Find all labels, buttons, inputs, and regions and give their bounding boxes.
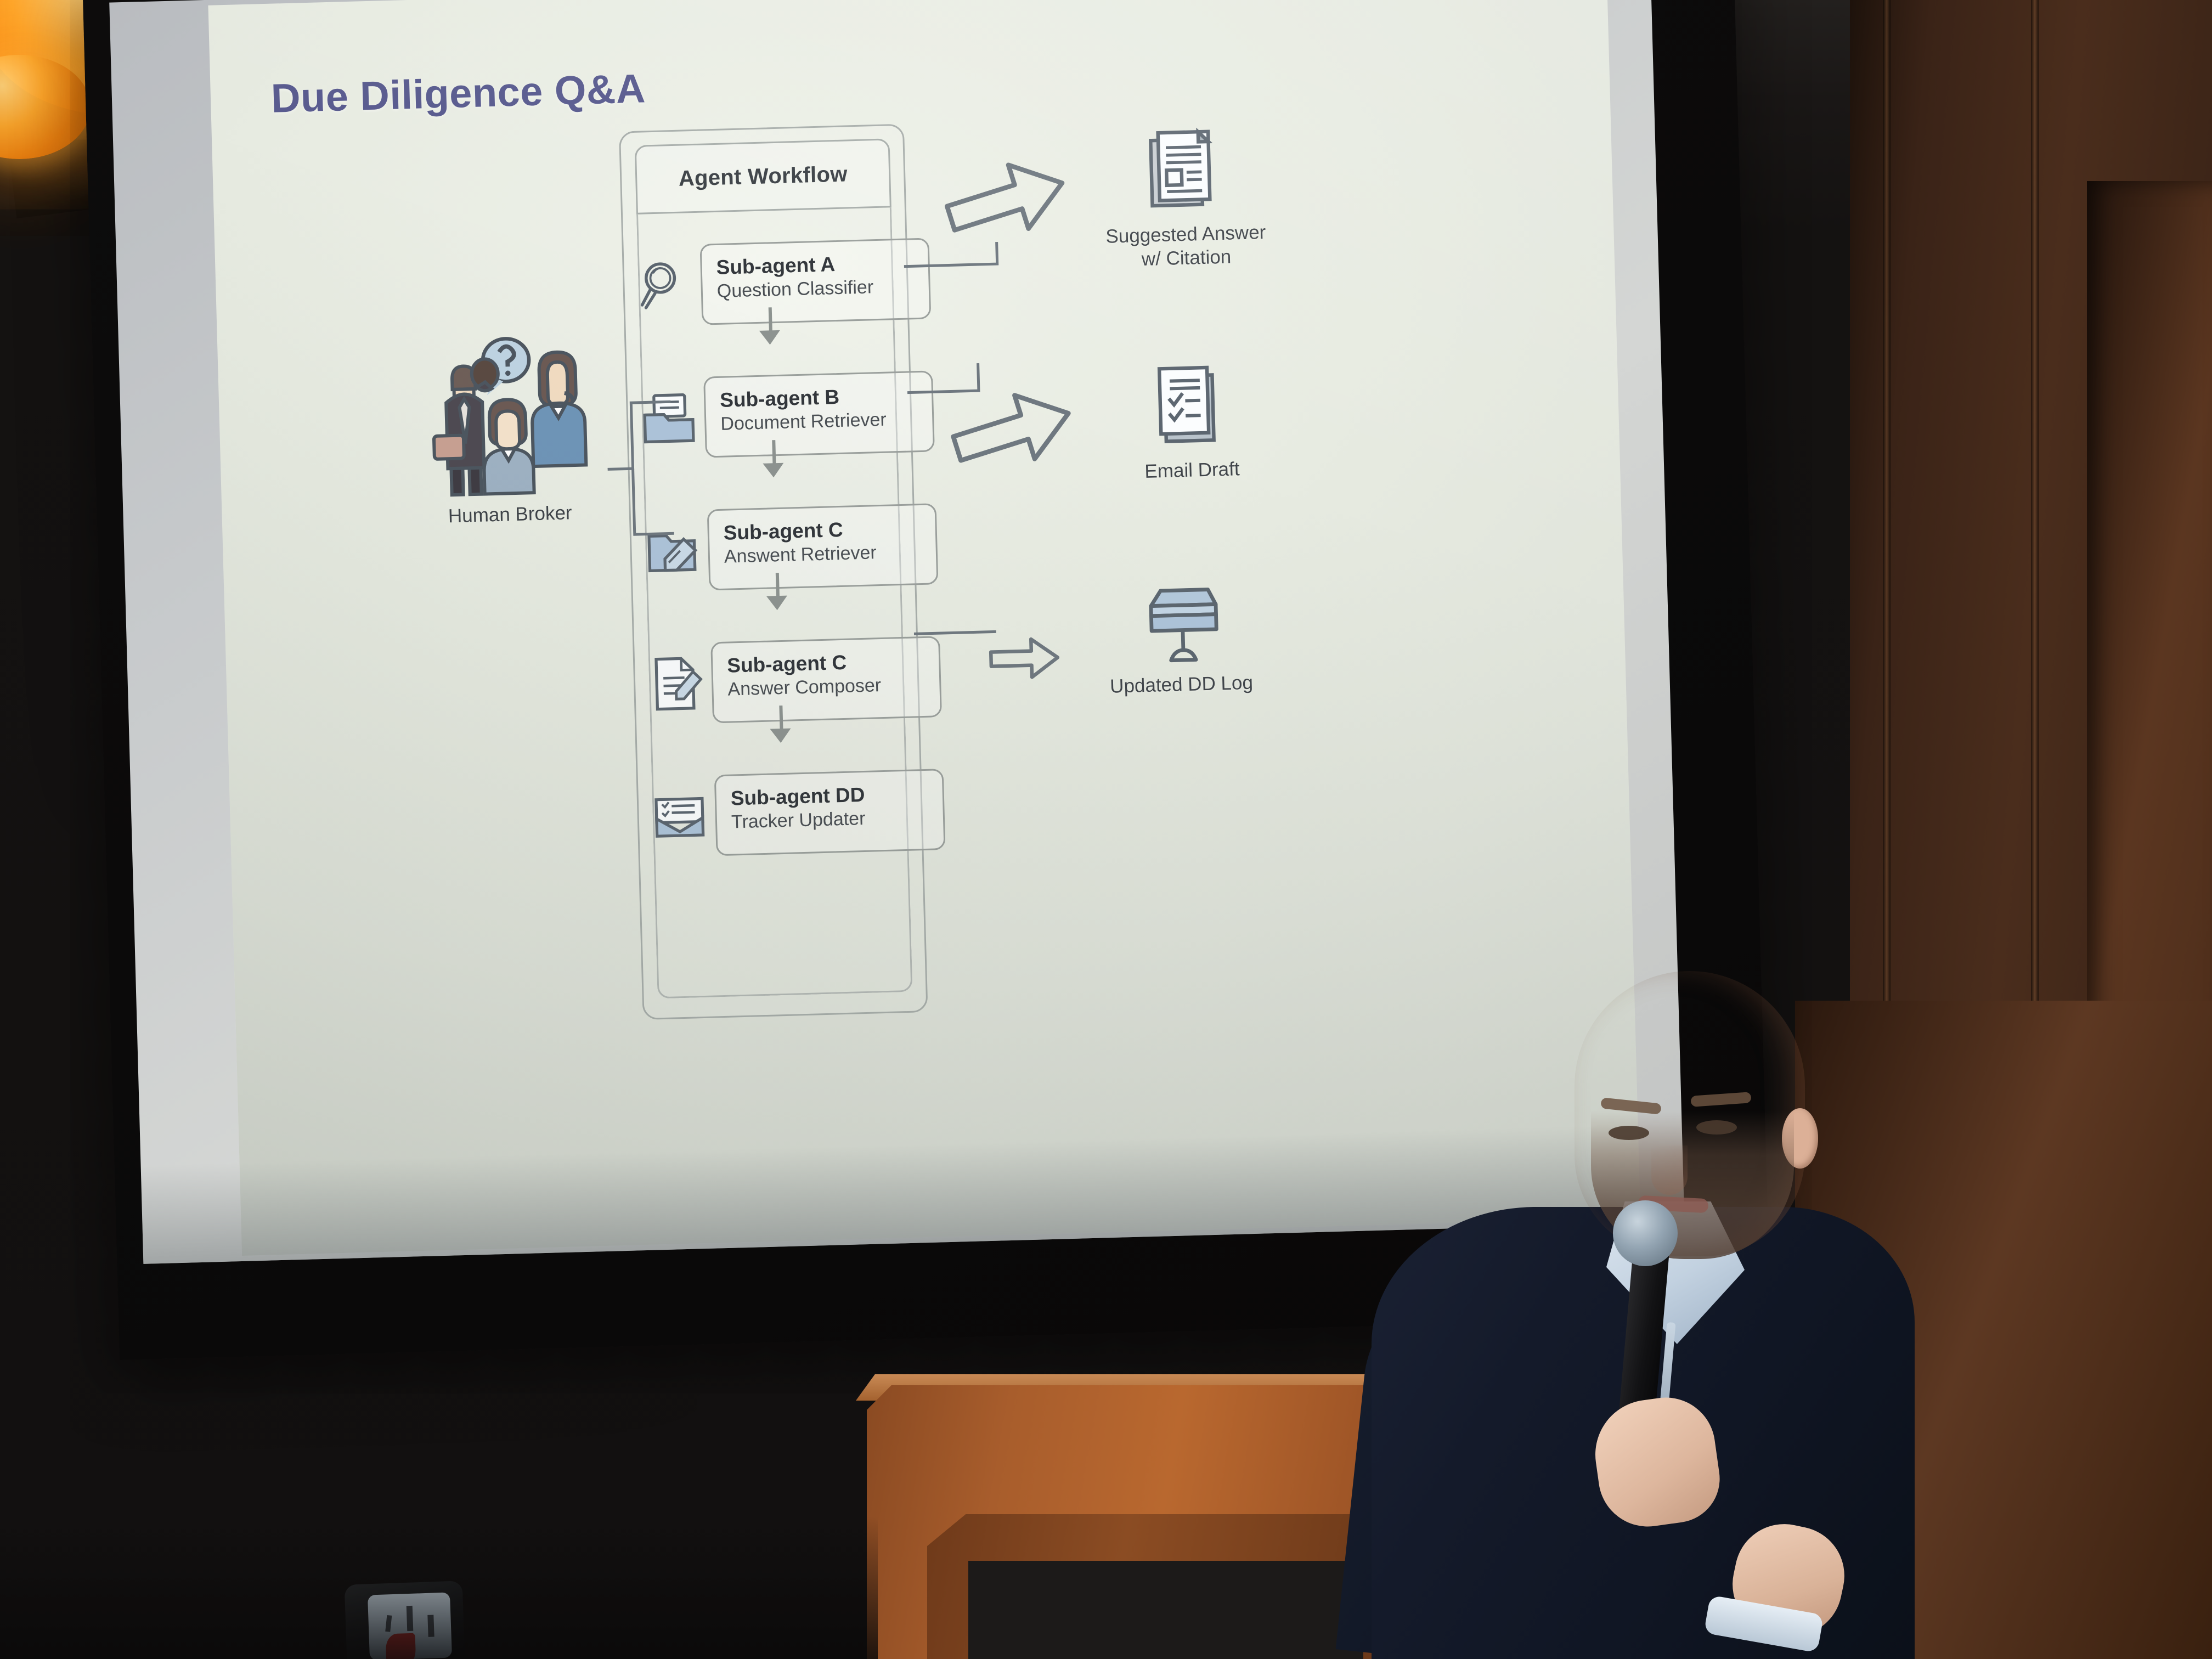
envelope-checklist-icon	[646, 783, 713, 849]
workflow-step: Sub-agent A Question Classifier	[622, 222, 932, 342]
workflow-step-box: Sub-agent DD Tracker Updater	[714, 769, 946, 856]
workflow-step-title: Sub-agent A	[716, 251, 923, 278]
document-stack-icon	[1062, 124, 1306, 221]
workflow-step-box: Sub-agent C Answer Composer	[710, 636, 942, 723]
workflow-step: Sub-agent C Answent Retriever	[629, 487, 939, 608]
flow-arrowhead	[766, 596, 788, 611]
presentation-photo: Due Diligence Q&A Agent Workflow	[0, 0, 2212, 1659]
flow-arrowhead	[759, 330, 781, 345]
workflow-step-subtitle: Answent Retriever	[724, 540, 930, 568]
output-node: Suggested Answer w/ Citation	[1062, 124, 1307, 273]
agent-workflow-header: Agent Workflow	[635, 138, 891, 215]
output-arrow-icon	[942, 147, 1071, 255]
presenter-eye	[1609, 1126, 1649, 1140]
workflow-step-title: Sub-agent C	[727, 650, 934, 676]
workflow-step-subtitle: Answer Composer	[727, 673, 934, 701]
podium-recess	[968, 1561, 1363, 1659]
flow-arrowhead	[770, 729, 791, 743]
flow-arrowhead	[763, 463, 784, 478]
workflow-step-subtitle: Document Retriever	[720, 408, 927, 435]
flow-connector	[772, 440, 776, 465]
workflow-step-box: Sub-agent B Document Retriever	[703, 370, 935, 458]
people-group-icon	[398, 329, 617, 502]
page-title: Due Diligence Q&A	[270, 65, 646, 121]
microphone-head-icon	[1613, 1200, 1678, 1266]
database-stand-icon	[1058, 579, 1302, 671]
flow-connector	[769, 307, 772, 332]
workflow-step-title: Sub-agent DD	[730, 782, 937, 809]
workflow-step: Sub-agent DD Tracker Updater	[636, 753, 946, 873]
presenter	[1355, 971, 1931, 1659]
workflow-step-subtitle: Tracker Updater	[731, 806, 938, 833]
floor-shadow	[0, 1516, 878, 1659]
human-broker-node: Human Broker	[398, 329, 617, 528]
output-node: Updated DD Log	[1058, 579, 1302, 700]
workflow-step-subtitle: Question Classifier	[716, 275, 923, 302]
output-label: Updated DD Log	[1060, 670, 1302, 700]
broker-connector	[606, 396, 675, 540]
agent-workflow-header-label: Agent Workflow	[678, 162, 848, 191]
flow-connector	[779, 706, 783, 731]
document-pencil-icon	[643, 650, 709, 716]
workflow-step-box: Sub-agent C Answent Retriever	[707, 503, 939, 590]
flow-connector	[776, 573, 780, 598]
checklist-document-icon	[1069, 360, 1312, 457]
workflow-step-title: Sub-agent B	[720, 384, 927, 411]
workflow-step-title: Sub-agent C	[723, 517, 930, 544]
magnifier-icon	[632, 252, 698, 318]
output-node: Email Draft	[1069, 360, 1313, 486]
output-arrow-icon	[948, 377, 1077, 484]
output-label: Email Draft	[1071, 456, 1313, 486]
workflow-step-box: Sub-agent A Question Classifier	[700, 238, 932, 325]
human-broker-label: Human Broker	[403, 501, 617, 529]
presenter-eye	[1696, 1120, 1737, 1135]
workflow-step: Sub-agent C Answer Composer	[632, 620, 942, 741]
presenter-nose	[1651, 1145, 1688, 1195]
output-arrow-icon	[988, 627, 1061, 689]
